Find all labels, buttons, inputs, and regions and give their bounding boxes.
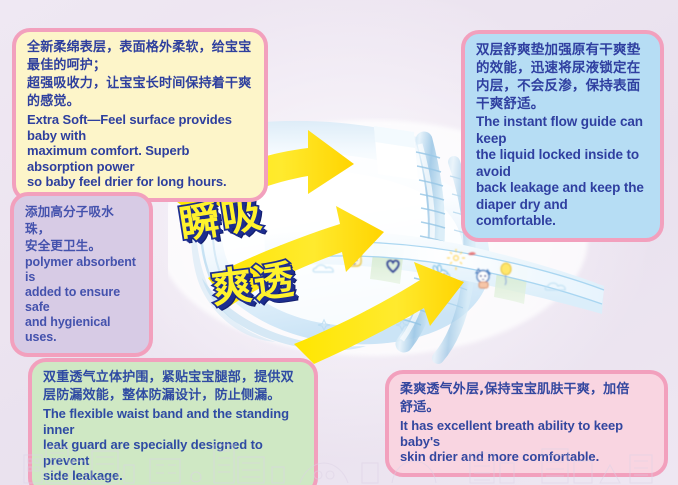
caption-polymer-chinese: 添加高分子吸水珠， 安全更卫生。	[25, 203, 138, 254]
caption-soft-feel-chinese: 全新柔绵表层，表面格外柔软，给宝宝最佳的呵护； 超强吸收力，让宝宝长时间保持着干…	[27, 39, 253, 111]
caption-soft-feel: 全新柔绵表层，表面格外柔软，给宝宝最佳的呵护； 超强吸收力，让宝宝长时间保持着干…	[12, 28, 268, 202]
arrow-bottom	[294, 262, 464, 364]
caption-flow-guide-english: The instant flow guide can keep the liqu…	[476, 114, 649, 230]
caption-breathable-english: It has excellent breath ability to keep …	[400, 418, 653, 465]
caption-flow-guide-chinese: 双层舒爽垫加强原有干爽垫 的效能，迅速将尿液锁定在 内层，不会反渗，保持表面 干…	[476, 41, 649, 113]
caption-breathable-chinese: 柔爽透气外层,保持宝宝肌肤干爽，加倍 舒适。	[400, 381, 653, 417]
arrow-middle	[208, 206, 384, 306]
caption-polymer-english: polymer absorbent is added to ensure saf…	[25, 255, 138, 345]
caption-polymer-absorbent: 添加高分子吸水珠， 安全更卫生。 polymer absorbent is ad…	[10, 192, 153, 357]
caption-breathable-outer-layer: 柔爽透气外层,保持宝宝肌肤干爽，加倍 舒适。 It has excellent …	[385, 370, 668, 477]
caption-flow-guide: 双层舒爽垫加强原有干爽垫 的效能，迅速将尿液锁定在 内层，不会反渗，保持表面 干…	[461, 30, 664, 242]
caption-leak-guard-chinese: 双重透气立体护围，紧贴宝宝腿部，提供双 层防漏效能，整体防漏设计，防止侧漏。	[43, 369, 303, 405]
product-feature-poster: 柔肤 瞬吸 爽透 全新柔绵表层，表面格外柔软，给宝宝最佳的呵护； 超强吸收力，让…	[0, 0, 678, 485]
caption-soft-feel-english: Extra Soft—Feel surface provides baby wi…	[27, 112, 253, 190]
caption-leak-guard-english: The flexible waist band and the standing…	[43, 406, 303, 484]
caption-leak-guard: 双重透气立体护围，紧贴宝宝腿部，提供双 层防漏效能，整体防漏设计，防止侧漏。 T…	[28, 358, 318, 485]
